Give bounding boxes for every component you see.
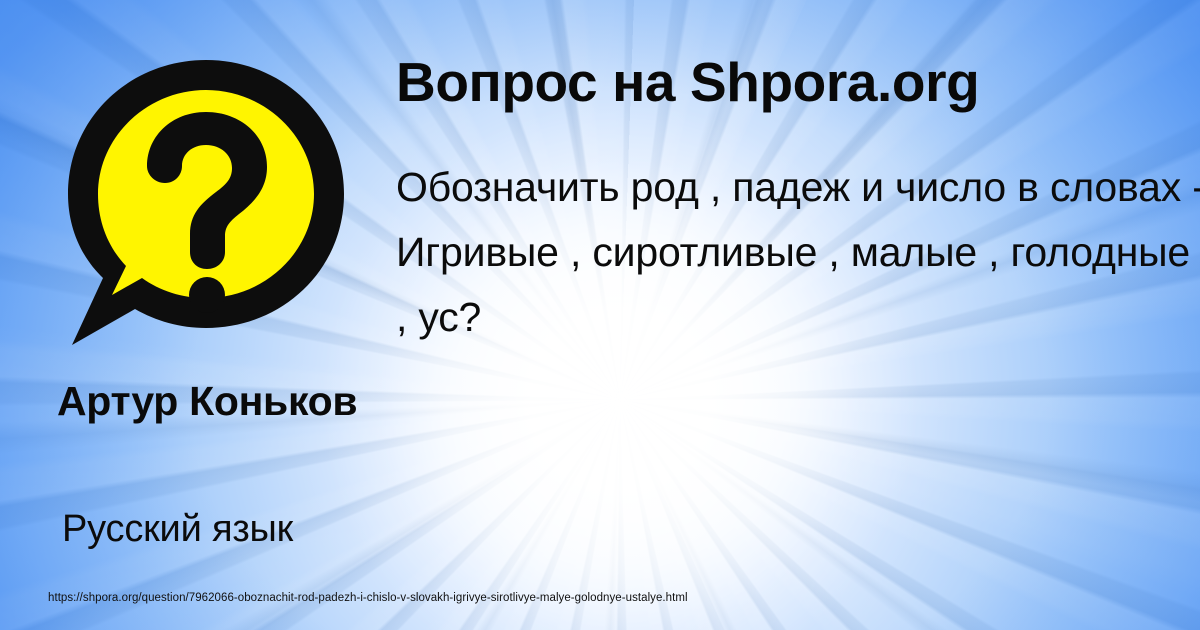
- source-url: https://shpora.org/question/7962066-oboz…: [48, 592, 688, 604]
- subject-label: Русский язык: [62, 508, 293, 551]
- question-text: Обозначить род , падеж и число в словах …: [396, 155, 1200, 350]
- page-title: Вопрос на Shpora.org: [396, 50, 979, 114]
- question-mark-speech-bubble-icon: [56, 52, 348, 352]
- author-name: Артур Коньков: [57, 378, 377, 424]
- question-card: Вопрос на Shpora.org Обозначить род , па…: [0, 0, 1200, 630]
